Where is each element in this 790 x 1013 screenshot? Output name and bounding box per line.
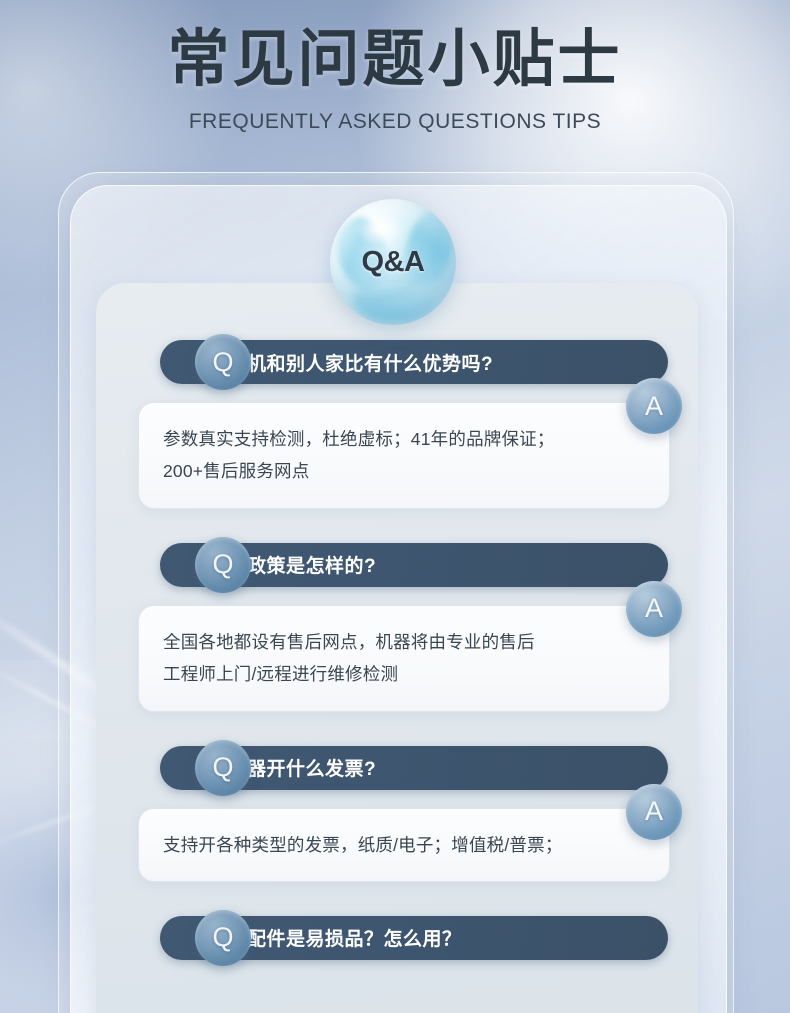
faq-question-row[interactable]: Q 洗地机和别人家比有什么优势吗? <box>160 340 668 384</box>
qa-bubble: Q&A <box>330 199 456 325</box>
faq-item: Q 买机器开什么发票? A 支持开各种类型的发票，纸质/电子；增值税/普票； <box>96 746 698 882</box>
answer-badge-icon: A <box>626 378 682 434</box>
faq-answer-box: 参数真实支持检测，杜绝虚标；41年的品牌保证； 200+售后服务网点 <box>138 402 670 509</box>
page-subtitle: FREQUENTLY ASKED QUESTIONS TIPS <box>0 110 790 134</box>
faq-answer-box: 支持开各种类型的发票，纸质/电子；增值税/普票； <box>138 808 670 882</box>
faq-answer-wrap: A 参数真实支持检测，杜绝虚标；41年的品牌保证； 200+售后服务网点 <box>138 402 670 509</box>
question-badge-label: Q <box>212 754 233 781</box>
answer-badge-label: A <box>645 393 663 420</box>
answer-badge-icon: A <box>626 581 682 637</box>
faq-spacer <box>96 712 698 746</box>
faq-spacer <box>96 509 698 543</box>
answer-badge-icon: A <box>626 784 682 840</box>
faq-answer-box: 全国各地都设有售后网点，机器将由专业的售后 工程师上门/远程进行维修检测 <box>138 605 670 712</box>
question-badge-label: Q <box>212 551 233 578</box>
faq-item: Q 哪些配件是易损品？怎么用？ <box>96 916 698 960</box>
faq-answer-wrap: A 全国各地都设有售后网点，机器将由专业的售后 工程师上门/远程进行维修检测 <box>138 605 670 712</box>
page-header: 常见问题小贴士 FREQUENTLY ASKED QUESTIONS TIPS <box>0 26 790 134</box>
qa-bubble-label: Q&A <box>330 199 456 325</box>
answer-badge-label: A <box>645 798 663 825</box>
faq-answer-text: 参数真实支持检测，杜绝虚标；41年的品牌保证； 200+售后服务网点 <box>163 423 581 488</box>
question-badge-icon: Q <box>195 740 251 796</box>
question-badge-label: Q <box>212 349 233 376</box>
faq-answer-wrap: A 支持开各种类型的发票，纸质/电子；增值税/普票； <box>138 808 670 882</box>
water-drop-icon: Q&A <box>330 199 456 325</box>
question-badge-icon: Q <box>195 910 251 966</box>
faq-answer-text: 全国各地都设有售后网点，机器将由专业的售后 工程师上门/远程进行维修检测 <box>163 626 581 691</box>
page-title: 常见问题小贴士 <box>0 26 790 94</box>
faq-item: Q 售后政策是怎样的? A 全国各地都设有售后网点，机器将由专业的售后 工程师上… <box>96 543 698 712</box>
answer-badge-label: A <box>645 595 663 622</box>
faq-question-row[interactable]: Q 售后政策是怎样的? <box>160 543 668 587</box>
faq-question-row[interactable]: Q 哪些配件是易损品？怎么用？ <box>160 916 668 960</box>
faq-page: 常见问题小贴士 FREQUENTLY ASKED QUESTIONS TIPS … <box>0 0 790 1013</box>
question-badge-icon: Q <box>195 334 251 390</box>
faq-question-row[interactable]: Q 买机器开什么发票? <box>160 746 668 790</box>
faq-answer-text: 支持开各种类型的发票，纸质/电子；增值税/普票； <box>163 829 581 861</box>
faq-list: Q 洗地机和别人家比有什么优势吗? A 参数真实支持检测，杜绝虚标；41年的品牌… <box>96 283 698 960</box>
faq-item: Q 洗地机和别人家比有什么优势吗? A 参数真实支持检测，杜绝虚标；41年的品牌… <box>96 340 698 509</box>
question-badge-icon: Q <box>195 537 251 593</box>
faq-spacer <box>96 882 698 916</box>
question-badge-label: Q <box>212 924 233 951</box>
